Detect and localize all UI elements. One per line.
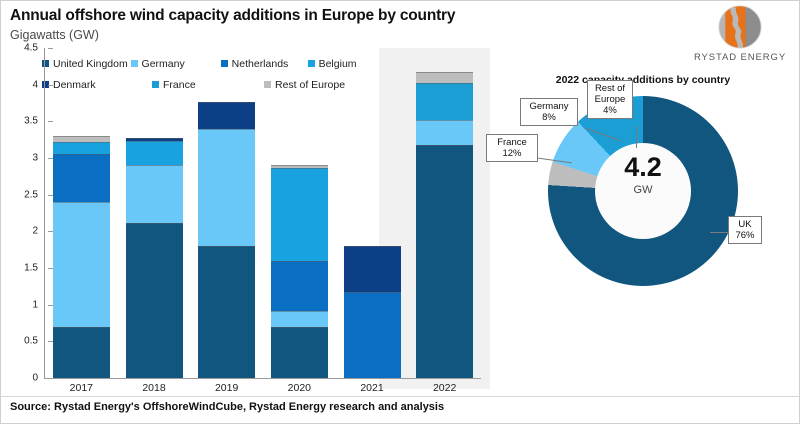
y-tick-label: 0 — [8, 373, 38, 384]
bar-group-2017[interactable]: 2017 — [53, 48, 110, 378]
leader-line-rest — [636, 126, 637, 148]
bar-series-container: 201720182019202020212022 — [45, 48, 481, 378]
bar-segment-united-kingdom[interactable] — [271, 327, 328, 378]
x-tick-label-2022: 2022 — [416, 382, 473, 394]
bar-segment-netherlands[interactable] — [271, 261, 328, 311]
stacked-bar[interactable] — [416, 72, 473, 379]
donut-title: 2022 capacity additions by country — [486, 74, 800, 86]
x-tick-label-2017: 2017 — [53, 382, 110, 394]
y-axis: 00.511.522.533.544.5 — [8, 48, 44, 378]
x-tick-label-2020: 2020 — [271, 382, 328, 394]
y-tick-label: 3 — [8, 153, 38, 164]
bar-segment-germany[interactable] — [126, 165, 183, 222]
y-tick-label: 2 — [8, 226, 38, 237]
callout-uk: UK 76% — [728, 216, 762, 244]
callout-rest-of-europe: Rest of Europe 4% — [587, 80, 633, 119]
callout-rest-label-1: Rest of — [592, 83, 628, 94]
donut-chart-section: 2022 capacity additions by country 4.2 G… — [486, 48, 800, 396]
bar-segment-belgium[interactable] — [271, 168, 328, 260]
bar-segment-belgium[interactable] — [126, 141, 183, 165]
bar-segment-united-kingdom[interactable] — [198, 246, 255, 378]
callout-france: France 12% — [486, 134, 538, 162]
bar-segment-rest-of-europe[interactable] — [416, 72, 473, 83]
bar-segment-united-kingdom[interactable] — [53, 327, 110, 378]
stacked-bar[interactable] — [53, 136, 110, 378]
y-tick-label: 2.5 — [8, 189, 38, 200]
bar-segment-netherlands[interactable] — [53, 154, 110, 202]
bar-segment-denmark[interactable] — [198, 102, 255, 129]
bar-chart-plot: 00.511.522.533.544.5 2017201820192020202… — [0, 48, 490, 396]
bar-segment-netherlands[interactable] — [344, 292, 401, 378]
y-tick-label: 4 — [8, 79, 38, 90]
callout-uk-pct: 76% — [733, 230, 757, 241]
x-axis-line — [44, 378, 481, 379]
donut-center-value: 4.2 — [548, 152, 738, 183]
x-tick-label-2018: 2018 — [126, 382, 183, 394]
bar-group-2022[interactable]: 2022 — [416, 48, 473, 378]
bar-segment-united-kingdom[interactable] — [126, 223, 183, 378]
y-tick-label: 0.5 — [8, 336, 38, 347]
globe-icon — [717, 4, 763, 50]
stacked-bar[interactable] — [126, 138, 183, 378]
bar-segment-germany[interactable] — [53, 202, 110, 327]
bar-segment-belgium[interactable] — [53, 142, 110, 154]
stacked-bar[interactable] — [198, 102, 255, 378]
x-tick-label-2021: 2021 — [344, 382, 401, 394]
stacked-bar[interactable] — [344, 246, 401, 378]
y-tick-label: 4.5 — [8, 43, 38, 54]
callout-germany-label: Germany — [525, 101, 573, 112]
callout-germany-pct: 8% — [525, 112, 573, 123]
x-tick-label-2019: 2019 — [198, 382, 255, 394]
bar-group-2019[interactable]: 2019 — [198, 48, 255, 378]
bar-group-2021[interactable]: 2021 — [344, 48, 401, 378]
bar-segment-germany[interactable] — [198, 129, 255, 246]
bar-group-2018[interactable]: 2018 — [126, 48, 183, 378]
bar-segment-france[interactable] — [416, 83, 473, 120]
donut-center-unit: GW — [548, 184, 738, 196]
bar-segment-germany[interactable] — [416, 120, 473, 145]
bar-segment-denmark[interactable] — [344, 246, 401, 292]
bar-group-2020[interactable]: 2020 — [271, 48, 328, 378]
footer-divider — [0, 396, 800, 397]
callout-germany: Germany 8% — [520, 98, 578, 126]
callout-uk-label: UK — [733, 219, 757, 230]
bar-segment-united-kingdom[interactable] — [416, 145, 473, 378]
callout-rest-pct: 4% — [592, 105, 628, 116]
y-tick-label: 1.5 — [8, 263, 38, 274]
y-tick-label: 1 — [8, 299, 38, 310]
source-note: Source: Rystad Energy's OffshoreWindCube… — [10, 401, 444, 413]
callout-france-pct: 12% — [491, 148, 533, 159]
stacked-bar[interactable] — [271, 165, 328, 378]
callout-france-label: France — [491, 137, 533, 148]
y-tick-label: 3.5 — [8, 116, 38, 127]
page-title: Annual offshore wind capacity additions … — [10, 7, 455, 25]
bar-segment-germany[interactable] — [271, 311, 328, 327]
chart-subtitle: Gigawatts (GW) — [10, 28, 99, 42]
callout-rest-label-2: Europe — [592, 94, 628, 105]
